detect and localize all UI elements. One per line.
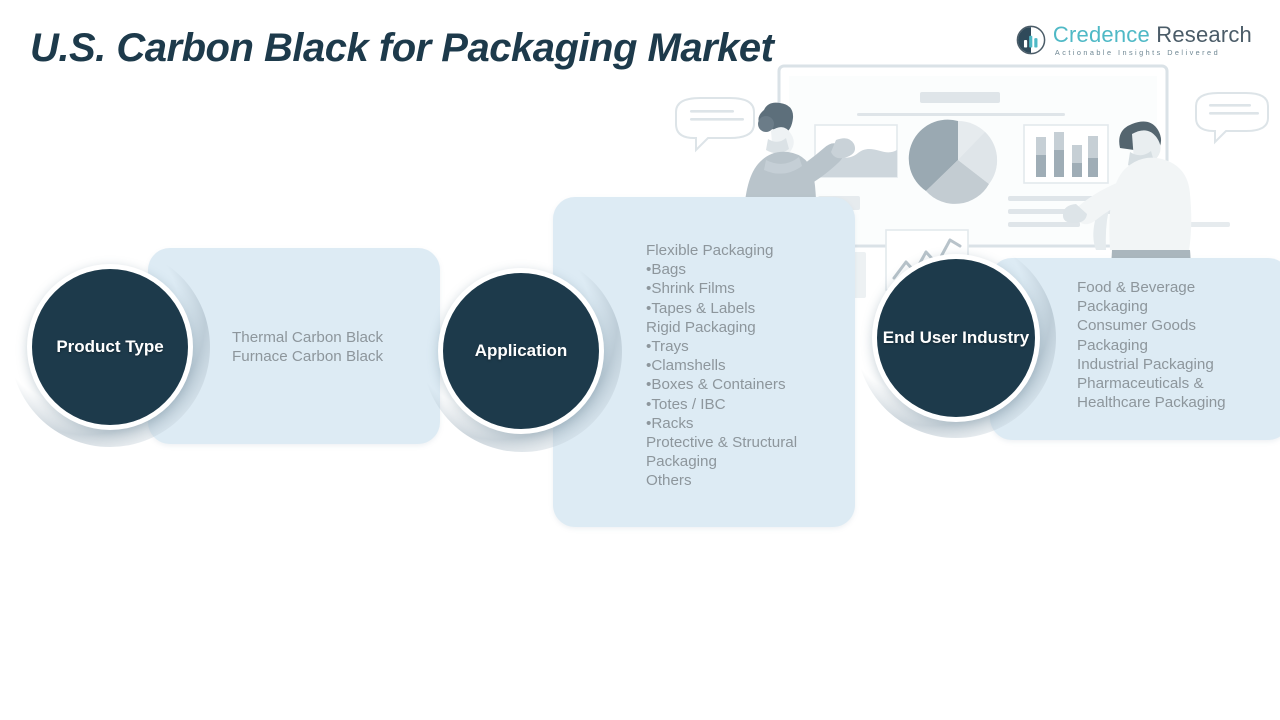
speech-bubble-left [676, 98, 754, 150]
bubble-label-product-type: Product Type [56, 336, 163, 358]
slide-canvas: U.S. Carbon Black for Packaging Market C… [0, 0, 1280, 720]
brand-logo: Credence Research Actionable Insights De… [1016, 24, 1252, 56]
board-text-lines [1008, 196, 1118, 227]
bar-chart-card [1024, 125, 1108, 183]
pie-chart [909, 120, 997, 204]
segment-items-application: Flexible Packaging •Bags •Shrink Films •… [646, 241, 846, 491]
brand-name-part2: Research [1150, 22, 1252, 47]
speech-bubble-right [1196, 93, 1268, 142]
bar-chart-circle-icon [1016, 25, 1046, 55]
brand-text: Credence Research Actionable Insights De… [1053, 24, 1252, 56]
brand-name-part1: Credence [1053, 22, 1150, 47]
bubble-application[interactable]: Application [443, 273, 599, 429]
segment-items-product-type: Thermal Carbon Black Furnace Carbon Blac… [232, 328, 432, 366]
brand-tagline: Actionable Insights Delivered [1055, 49, 1252, 56]
bubble-label-application: Application [475, 340, 568, 362]
bubble-end-user-industry[interactable]: End User Industry [877, 259, 1035, 417]
brand-name: Credence Research [1053, 24, 1252, 46]
page-title: U.S. Carbon Black for Packaging Market [30, 26, 773, 71]
segment-items-end-user-industry: Food & Beverage Packaging Consumer Goods… [1077, 278, 1267, 412]
bubble-product-type[interactable]: Product Type [32, 269, 188, 425]
board-placeholder-bars [857, 92, 1065, 116]
bubble-label-end-user-industry: End User Industry [883, 327, 1029, 349]
area-chart-card [815, 125, 897, 177]
